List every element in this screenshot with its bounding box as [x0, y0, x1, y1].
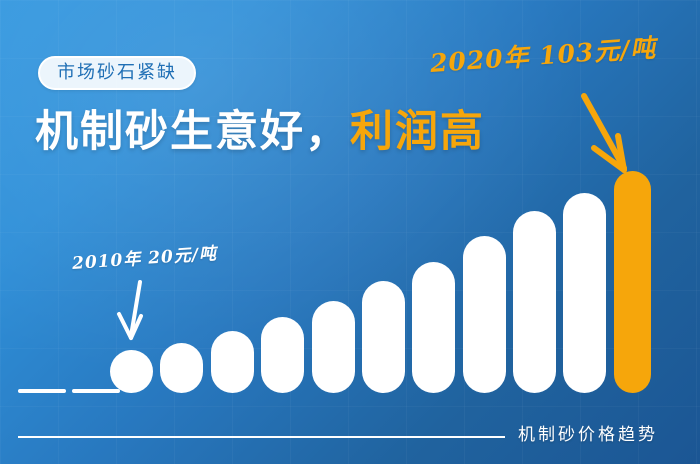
chart-bar	[362, 281, 405, 393]
status-badge: 市场砂石紧缺	[38, 56, 196, 90]
chart-bar	[312, 301, 355, 393]
chart-bar	[463, 236, 506, 393]
footer-divider	[18, 436, 505, 438]
chart-bar	[614, 171, 651, 393]
chart-bar	[160, 343, 203, 393]
headline-accent: 利润高	[350, 108, 485, 156]
chart-bar	[412, 262, 455, 393]
chart-bar-baseline-dash	[72, 389, 120, 393]
chart-bar-baseline-dash	[18, 389, 66, 393]
page-title: 机制砂生意好，利润高	[35, 108, 485, 157]
headline-main: 机制砂生意好，	[35, 108, 350, 156]
badge-label: 市场砂石紧缺	[57, 62, 177, 82]
chart-bar	[261, 317, 304, 393]
chart-bar	[211, 331, 254, 393]
chart-caption: 机制砂价格趋势	[518, 420, 658, 445]
chart-bar	[110, 350, 153, 393]
infographic-poster: 市场砂石紧缺 机制砂生意好，利润高 2020年 103元/吨 2010年 20元…	[0, 0, 700, 464]
chart-bar	[563, 193, 606, 393]
chart-bar	[513, 211, 556, 393]
